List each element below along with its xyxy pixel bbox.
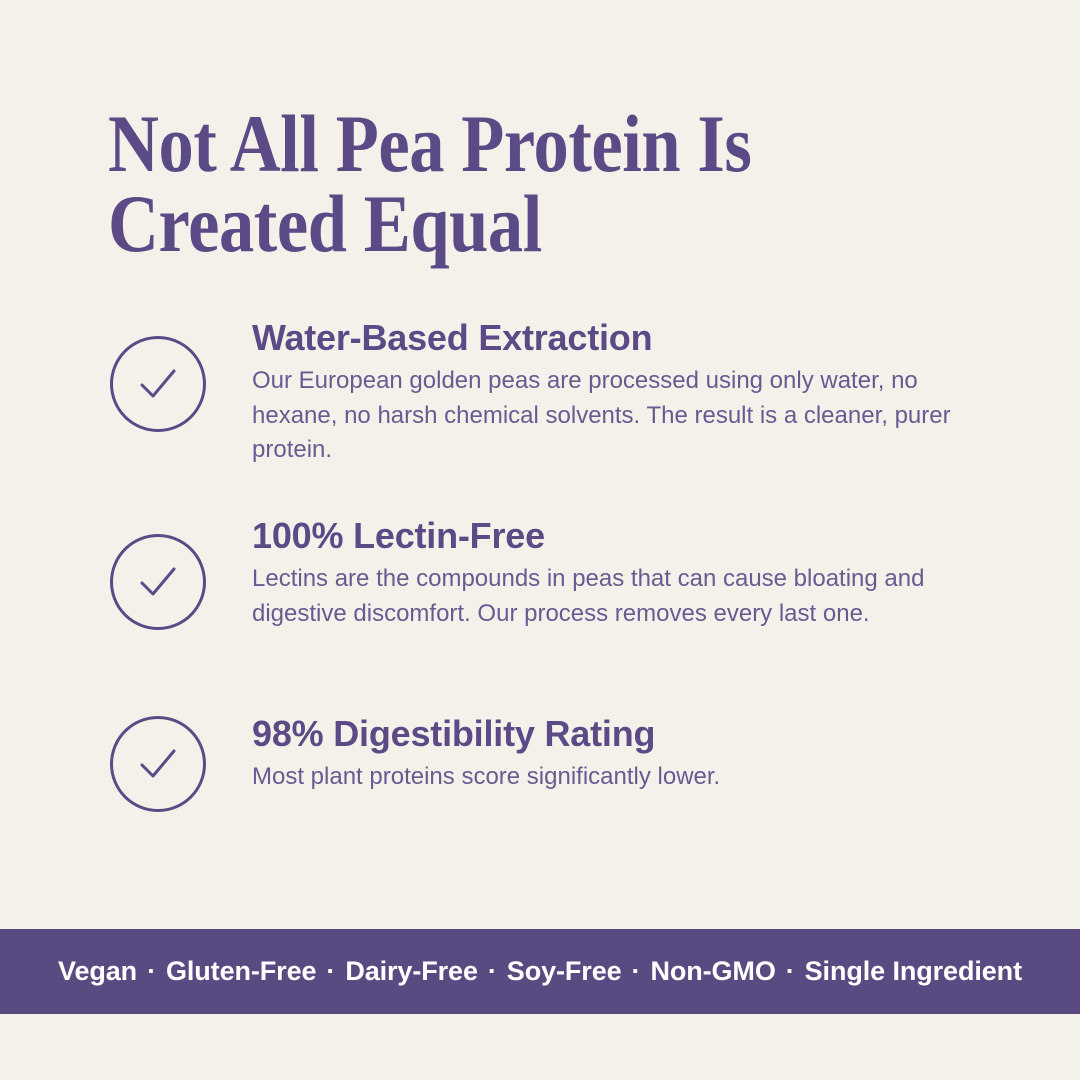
promo-poster: Not All Pea Protein Is Created Equal Wat… [0, 0, 1080, 1080]
check-circle-icon [110, 534, 206, 630]
feature-text: Water-Based Extraction Our European gold… [252, 318, 964, 468]
separator-dot: · [326, 956, 335, 987]
check-circle-icon [110, 716, 206, 812]
feature-body: Our European golden peas are processed u… [252, 364, 964, 468]
attribute-badge: Non-GMO [650, 956, 775, 987]
headline-block: Not All Pea Protein Is Created Equal [108, 104, 988, 265]
feature-text: 100% Lectin-Free Lectins are the compoun… [252, 516, 964, 631]
feature-list: Water-Based Extraction Our European gold… [0, 318, 1080, 834]
separator-dot: · [488, 956, 497, 987]
attributes-banner: Vegan · Gluten-Free · Dairy-Free · Soy-F… [0, 929, 1080, 1014]
feature-item: 98% Digestibility Rating Most plant prot… [0, 714, 1080, 834]
attribute-badge: Single Ingredient [805, 956, 1022, 987]
feature-body: Lectins are the compounds in peas that c… [252, 562, 964, 631]
feature-title: 100% Lectin-Free [252, 516, 964, 556]
attribute-badge: Gluten-Free [166, 956, 316, 987]
feature-item: Water-Based Extraction Our European gold… [0, 318, 1080, 516]
attribute-badge: Soy-Free [507, 956, 622, 987]
attribute-badge: Vegan [58, 956, 137, 987]
separator-dot: · [147, 956, 156, 987]
feature-body: Most plant proteins score significantly … [252, 760, 964, 795]
feature-title: Water-Based Extraction [252, 318, 964, 358]
feature-title: 98% Digestibility Rating [252, 714, 964, 754]
feature-text: 98% Digestibility Rating Most plant prot… [252, 714, 964, 795]
attribute-badge: Dairy-Free [345, 956, 478, 987]
check-circle-icon [110, 336, 206, 432]
separator-dot: · [632, 956, 641, 987]
separator-dot: · [786, 956, 795, 987]
attributes-list: Vegan · Gluten-Free · Dairy-Free · Soy-F… [58, 956, 1022, 987]
feature-item: 100% Lectin-Free Lectins are the compoun… [0, 516, 1080, 714]
page-title: Not All Pea Protein Is Created Equal [108, 104, 865, 265]
